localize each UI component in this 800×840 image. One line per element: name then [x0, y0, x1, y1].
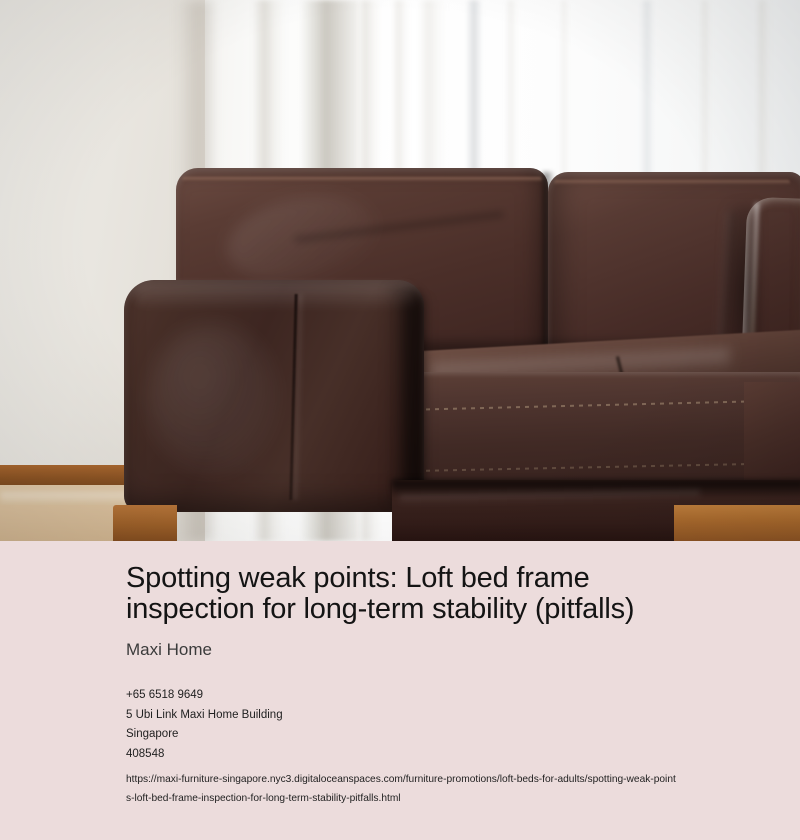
- cushion-piping: [182, 177, 542, 182]
- page-url[interactable]: https://maxi-furniture-singapore.nyc3.di…: [126, 770, 680, 808]
- wooden-plinth-left: [113, 505, 177, 541]
- brand-name: Maxi Home: [126, 639, 680, 661]
- contact-postal-code: 408548: [126, 745, 680, 765]
- info-panel: Spotting weak points: Loft bed frame ins…: [0, 541, 800, 840]
- page-title: Spotting weak points: Loft bed frame ins…: [126, 563, 680, 625]
- armrest-highlight: [134, 284, 416, 310]
- sofa-armrest: [124, 280, 424, 512]
- contact-phone[interactable]: +65 6518 9649: [126, 686, 680, 706]
- cushion-piping: [554, 180, 790, 185]
- contact-address: 5 Ubi Link Maxi Home Building: [126, 706, 680, 726]
- contact-country: Singapore: [126, 725, 680, 745]
- sofa-second-seat: [744, 382, 800, 482]
- contact-block: +65 6518 9649 5 Ubi Link Maxi Home Build…: [126, 686, 680, 764]
- armrest-sheen: [148, 324, 278, 474]
- hero-photo: [0, 0, 800, 541]
- floor-foreground: [0, 505, 120, 541]
- page-root: Spotting weak points: Loft bed frame ins…: [0, 0, 800, 840]
- wooden-plinth-right: [674, 505, 800, 541]
